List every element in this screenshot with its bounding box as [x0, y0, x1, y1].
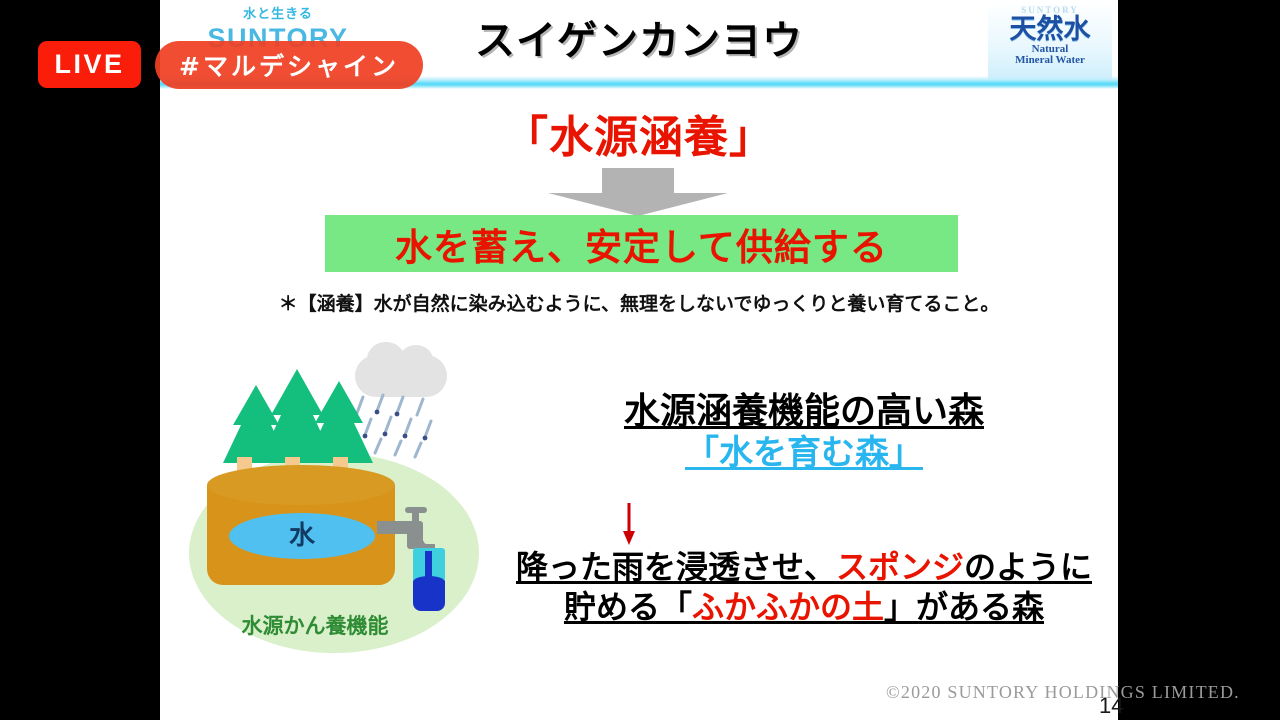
tennensui-product-logo: SUNTORY 天然水 Natural Mineral Water [988, 2, 1112, 80]
hashtag-pill[interactable]: #マルデシャイン [155, 41, 423, 89]
illustration-caption: 水源かん養機能 [215, 610, 415, 640]
product-kanji-text: 天然水 [988, 16, 1112, 43]
green-statement-text: 水を蓄え、安定して供給する [395, 217, 888, 271]
water-cycle-illustration: 水 水源かん養機能 [185, 345, 485, 665]
desc-line1-part-a: 降った雨を浸透させ、 [516, 548, 836, 586]
bottle-lower [413, 581, 445, 611]
water-tank-rim [207, 465, 395, 505]
definition-footnote: ＊【涵養】水が自然に染み込むように、無理をしないでゆっくりと養い育てること。 [160, 289, 1118, 316]
video-stage: 水と生きる SUNTORY スイゲンカンヨウ SUNTORY 天然水 Natur… [0, 0, 1280, 720]
product-english-line2: Mineral Water [988, 55, 1112, 66]
desc-line1-part-b: のように [964, 548, 1092, 586]
down-arrow-icon [622, 503, 636, 545]
water-tank-surface: 水 [229, 513, 375, 559]
presentation-slide: 水と生きる SUNTORY スイゲンカンヨウ SUNTORY 天然水 Natur… [160, 0, 1118, 720]
desc-line1-highlight: スポンジ [836, 548, 964, 586]
desc-line2-highlight: ふかふかの土 [692, 588, 884, 626]
forest-description-line2: 貯める「ふかふかの土」がある森 [490, 587, 1118, 627]
down-block-arrow-icon [548, 168, 728, 216]
forest-nickname-text: 「水を育む森」 [685, 433, 923, 473]
forest-nickname-line: 「水を育む森」 [490, 434, 1118, 472]
desc-line2-part-a: 貯める「 [564, 588, 692, 626]
forest-title-line: 水源涵養機能の高い森 [490, 392, 1118, 432]
hashtag-label: #マルデシャイン [179, 47, 399, 83]
page-number: 14 [1099, 693, 1123, 719]
live-badge-label: LIVE [54, 49, 124, 80]
desc-line2-part-b: 」がある森 [884, 588, 1044, 626]
forest-definition-block: 水源涵養機能の高い森 「水を育む森」 [490, 392, 1118, 472]
headline-suigen-kanyou: 「水源涵養」 [160, 101, 1118, 165]
forest-description-line1: 降った雨を浸透させ、スポンジのように [490, 547, 1118, 587]
forest-description-block: 降った雨を浸透させ、スポンジのように 貯める「ふかふかの土」がある森 [490, 547, 1118, 627]
tank-label: 水 [289, 523, 315, 549]
copyright-notice: ©2020 SUNTORY HOLDINGS LIMITED. [886, 682, 1240, 703]
forest-title-text: 水源涵養機能の高い森 [624, 391, 984, 432]
green-statement-banner: 水を蓄え、安定して供給する [325, 215, 958, 272]
live-badge: LIVE [38, 41, 141, 88]
